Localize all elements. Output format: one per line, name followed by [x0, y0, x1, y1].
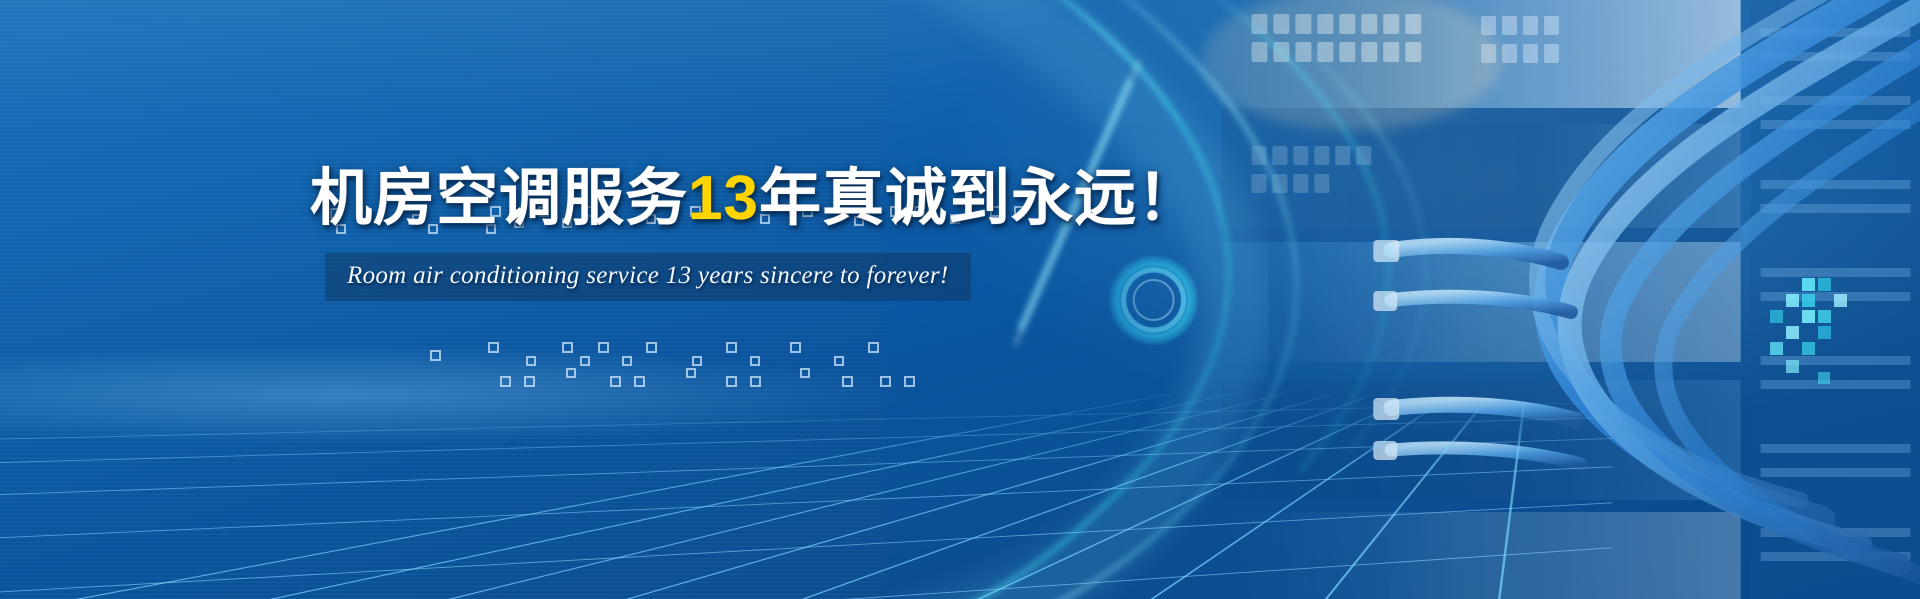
server-rack-photo [922, 0, 1920, 599]
pixel-squares-bottom [430, 336, 1130, 396]
promo-banner: 机房空调服务13年真诚到永远！ Room air conditioning se… [0, 0, 1920, 599]
banner-headline: 机房空调服务13年真诚到永远！ [310, 168, 1200, 230]
pixel-squares-bottom-secondary [500, 368, 1160, 408]
headline-years-number: 13 [688, 164, 759, 233]
horizon-glow [0, 323, 1152, 443]
cyan-pixel-mosaic [1760, 278, 1856, 388]
headline-prefix: 机房空调服务 [310, 164, 688, 233]
headline-suffix: 年真诚到永远！ [759, 164, 1200, 233]
banner-subtitle-band: Room air conditioning service 13 years s… [325, 253, 971, 301]
banner-subtitle: Room air conditioning service 13 years s… [347, 262, 949, 290]
perspective-grid-floor [0, 383, 1613, 599]
